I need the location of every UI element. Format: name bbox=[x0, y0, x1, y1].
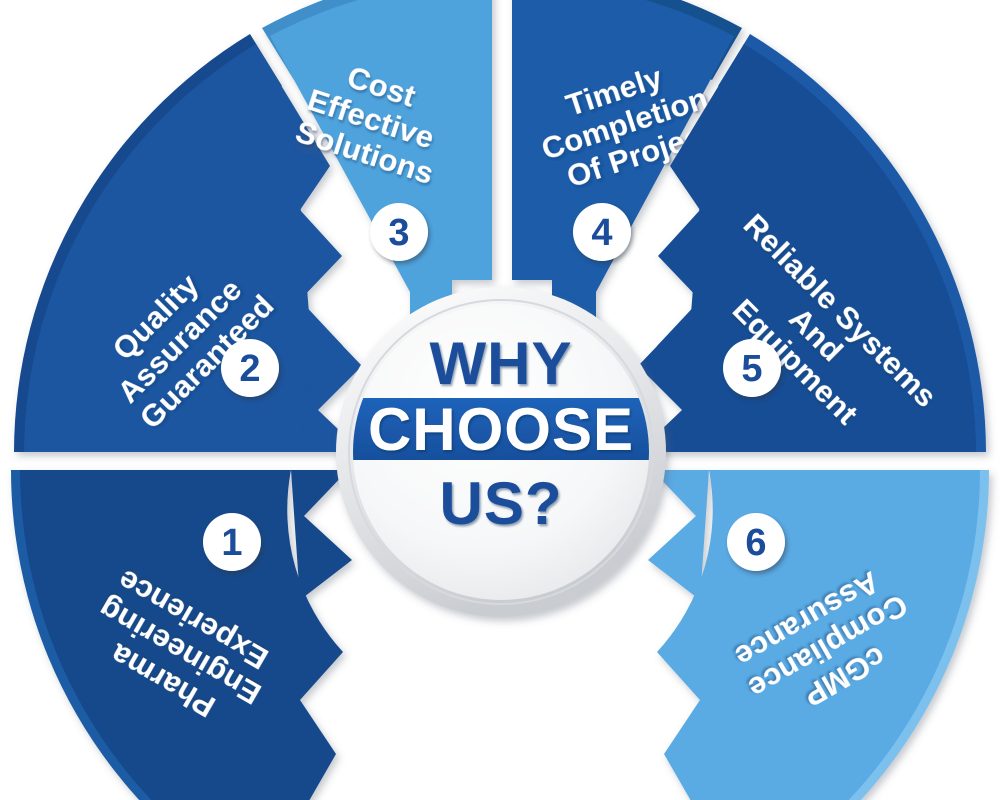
badge-3-number: 3 bbox=[388, 212, 409, 254]
badge-5-number: 5 bbox=[741, 348, 762, 390]
segment-1[interactable]: Pharma Engineering Experience bbox=[11, 470, 352, 800]
badge-4[interactable]: 4 bbox=[573, 203, 631, 261]
center-line-1: WHY bbox=[430, 330, 573, 397]
badge-6-number: 6 bbox=[745, 522, 766, 564]
badge-2-number: 2 bbox=[239, 348, 260, 390]
center-line-3: US? bbox=[440, 470, 563, 537]
center-hub[interactable]: WHY CHOOSE US? bbox=[330, 287, 672, 617]
badge-1[interactable]: 1 bbox=[203, 513, 261, 571]
badge-2[interactable]: 2 bbox=[221, 339, 279, 397]
segment-6[interactable]: cGMP Compliance Assurance bbox=[648, 470, 989, 800]
infographic-canvas: Pharma Engineering Experience Quality As… bbox=[0, 0, 1000, 800]
badge-6[interactable]: 6 bbox=[727, 513, 785, 571]
badge-3[interactable]: 3 bbox=[370, 203, 428, 261]
badge-5[interactable]: 5 bbox=[723, 339, 781, 397]
badge-1-number: 1 bbox=[221, 522, 242, 564]
why-choose-us-wheel: Pharma Engineering Experience Quality As… bbox=[0, 0, 1000, 800]
center-line-2: CHOOSE bbox=[368, 396, 634, 463]
badge-4-number: 4 bbox=[591, 212, 612, 254]
